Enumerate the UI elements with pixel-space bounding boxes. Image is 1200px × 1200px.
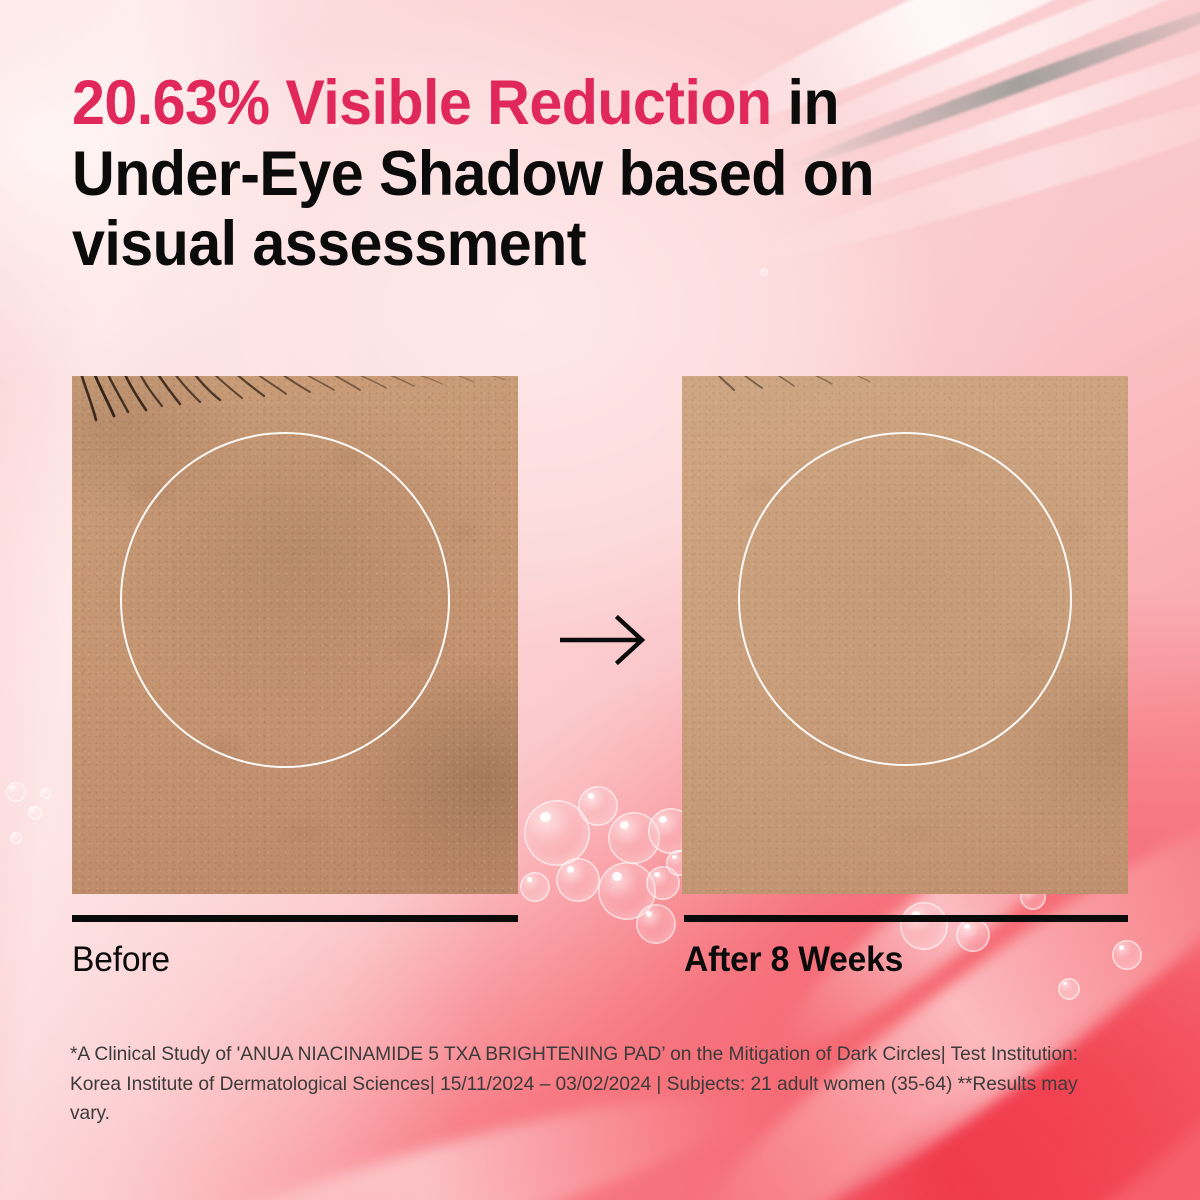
before-divider-rule [72, 915, 518, 922]
headline-accent-stat: 20.63% Visible Reduction [72, 68, 772, 138]
before-label: Before [72, 940, 170, 980]
after-measurement-circle [738, 432, 1072, 766]
before-photo [72, 376, 518, 894]
clinical-study-footnote: *A Clinical Study of 'ANUA NIACINAMIDE 5… [70, 1040, 1085, 1129]
after-photo [682, 376, 1128, 894]
after-eyelash-overlay [682, 376, 1128, 436]
headline-line2: Under-Eye Shadow based on [72, 139, 874, 209]
infographic-canvas: 20.63% Visible Reduction in Under-Eye Sh… [0, 0, 1200, 1200]
after-label: After 8 Weeks [684, 940, 903, 980]
page-title: 20.63% Visible Reduction in Under-Eye Sh… [72, 68, 1050, 280]
before-measurement-circle [120, 432, 450, 768]
headline-line3: visual assessment [72, 209, 586, 279]
footnote-line1: *A Clinical Study of 'ANUA NIACINAMIDE 5… [70, 1043, 986, 1065]
after-divider-rule [684, 915, 1128, 922]
right-arrow-icon [560, 612, 650, 668]
headline-line1-tail: in [772, 68, 839, 138]
